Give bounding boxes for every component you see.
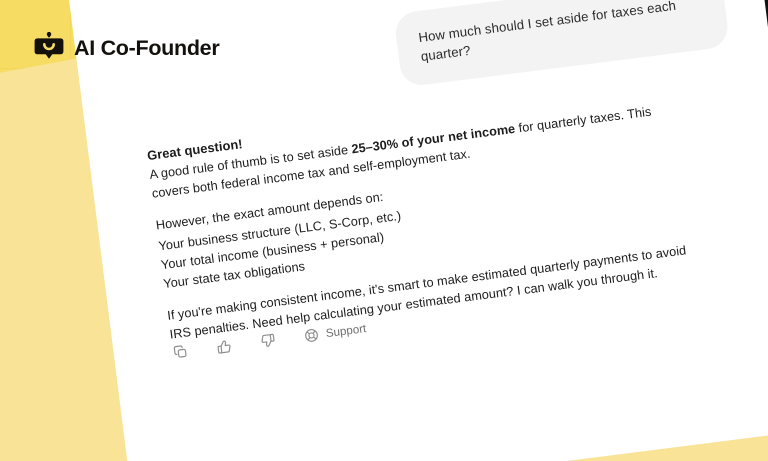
thumbs-up-icon[interactable] (215, 337, 233, 355)
support-label: Support (325, 322, 367, 340)
chat-card-inner: How much should I set aside for taxes ea… (64, 0, 768, 461)
user-message-bubble: How much should I set aside for taxes ea… (393, 0, 730, 88)
screenshot-stage: How much should I set aside for taxes ea… (0, 0, 768, 461)
brand-name: AI Co-Founder (74, 36, 219, 61)
thumbs-down-icon[interactable] (258, 332, 276, 350)
robot-head-icon (34, 32, 64, 64)
chat-card: How much should I set aside for taxes ea… (64, 0, 768, 461)
copy-icon[interactable] (171, 343, 189, 361)
assistant-message: Great question! A good rule of thumb is … (146, 79, 707, 345)
brand-logo: AI Co-Founder (34, 32, 219, 64)
lifebuoy-icon (302, 326, 320, 344)
